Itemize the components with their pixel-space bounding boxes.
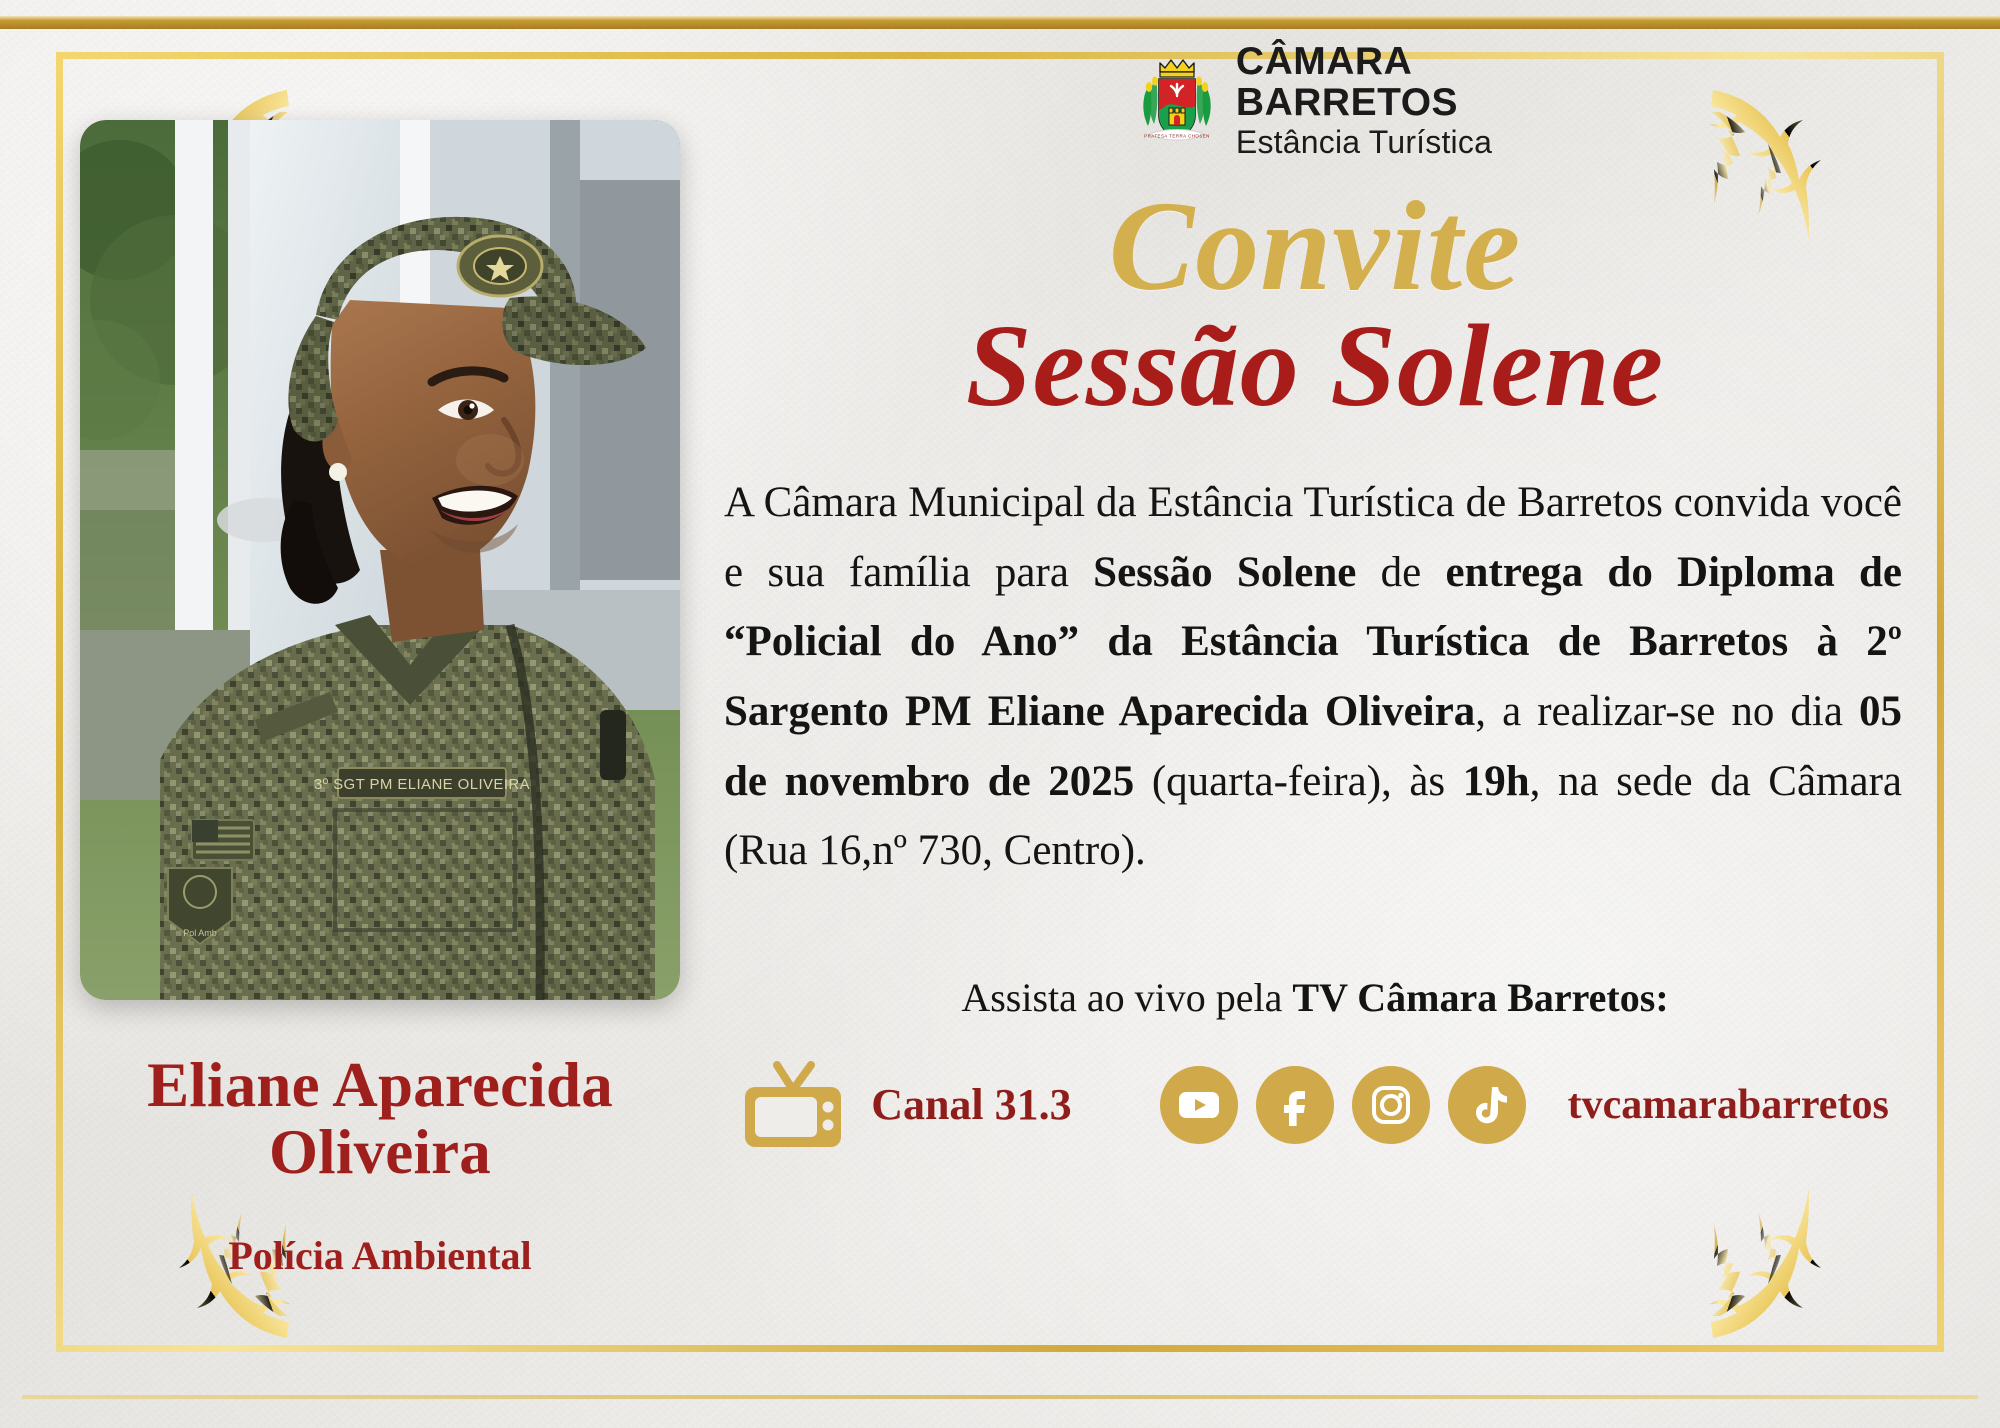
body-segment-7: 19h [1463, 758, 1530, 805]
facebook-icon[interactable] [1256, 1066, 1334, 1144]
logo-line-estancia: Estância Turística [1236, 126, 1492, 158]
honoree-name: Eliane Aparecida Oliveira [80, 1052, 680, 1186]
content-column: PRATESA TERRA CHOSEN CÂMARA BARRETOS Est… [700, 24, 1930, 1404]
instagram-icon[interactable] [1352, 1066, 1430, 1144]
logo-line-barretos: BARRETOS [1236, 83, 1492, 122]
television-icon [741, 1059, 845, 1151]
body-segment-1: Sessão Solene [1093, 549, 1356, 596]
channels-row: Canal 31.3 [700, 1059, 1930, 1151]
channel-number-label: Canal 31.3 [871, 1079, 1071, 1130]
camara-barretos-logo: PRATESA TERRA CHOSEN CÂMARA BARRETOS Est… [700, 44, 1930, 156]
page-title-sessao-solene: Sessão Solene [700, 304, 1930, 428]
live-broadcast-line: Assista ao vivo pela TV Câmara Barretos: [700, 974, 1930, 1021]
youtube-icon[interactable] [1160, 1066, 1238, 1144]
honoree-photo: 3º SGT PM ELIANE OLIVEIRA Pol Amb [80, 120, 680, 1000]
barretos-coat-of-arms-icon: PRATESA TERRA CHOSEN [1138, 54, 1216, 146]
honoree-column: 3º SGT PM ELIANE OLIVEIRA Pol Amb [80, 120, 680, 1279]
body-segment-2: de [1356, 549, 1445, 596]
honoree-role: Polícia Ambiental [80, 1232, 680, 1279]
svg-text:PRATESA TERRA CHOSEN: PRATESA TERRA CHOSEN [1144, 134, 1210, 139]
logo-wordmark: CÂMARA BARRETOS Estância Turística [1236, 42, 1492, 158]
social-handle: tvcamarabarretos [1568, 1081, 1889, 1129]
svg-text:3º SGT PM ELIANE OLIVEIRA: 3º SGT PM ELIANE OLIVEIRA [314, 776, 530, 793]
title-block: Convite Sessão Solene [700, 182, 1930, 428]
invitation-poster: 3º SGT PM ELIANE OLIVEIRA Pol Amb [0, 0, 2000, 1428]
logo-line-camara: CÂMARA [1236, 42, 1492, 81]
live-channel-name: TV Câmara Barretos: [1292, 975, 1668, 1020]
honoree-name-line1: Eliane Aparecida [80, 1052, 680, 1119]
tiktok-icon[interactable] [1448, 1066, 1526, 1144]
svg-text:Pol Amb: Pol Amb [183, 928, 217, 938]
honoree-name-line2: Oliveira [80, 1119, 680, 1186]
invitation-body-text: A Câmara Municipal da Estância Turística… [724, 468, 1902, 886]
body-segment-4: , a realizar-se no dia [1475, 688, 1859, 735]
live-prefix: Assista ao vivo pela [961, 975, 1292, 1020]
page-title-convite: Convite [700, 182, 1930, 310]
body-segment-6: (quarta-feira), às [1134, 758, 1462, 805]
